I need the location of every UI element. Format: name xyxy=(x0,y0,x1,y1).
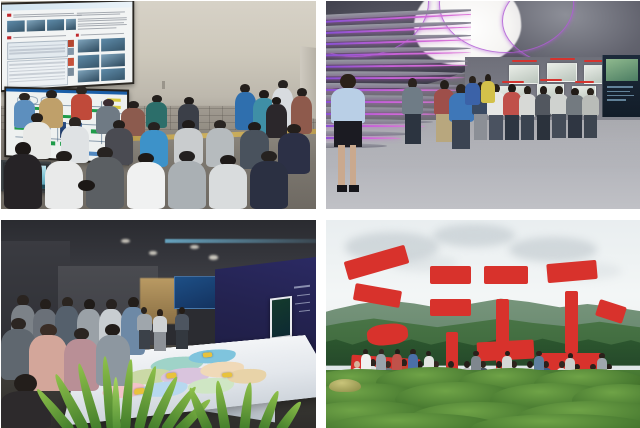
panel-top-right[interactable] xyxy=(326,1,640,209)
panel-top-left[interactable] xyxy=(1,1,316,209)
visitor-crowd xyxy=(1,1,316,209)
foreground-plant-right xyxy=(196,374,316,428)
visitor-group xyxy=(326,1,640,209)
panel-bottom-left[interactable] xyxy=(1,220,316,428)
photo-collage xyxy=(0,0,640,427)
panel-bottom-right[interactable] xyxy=(326,220,640,428)
tea-bush-rows xyxy=(326,366,640,428)
